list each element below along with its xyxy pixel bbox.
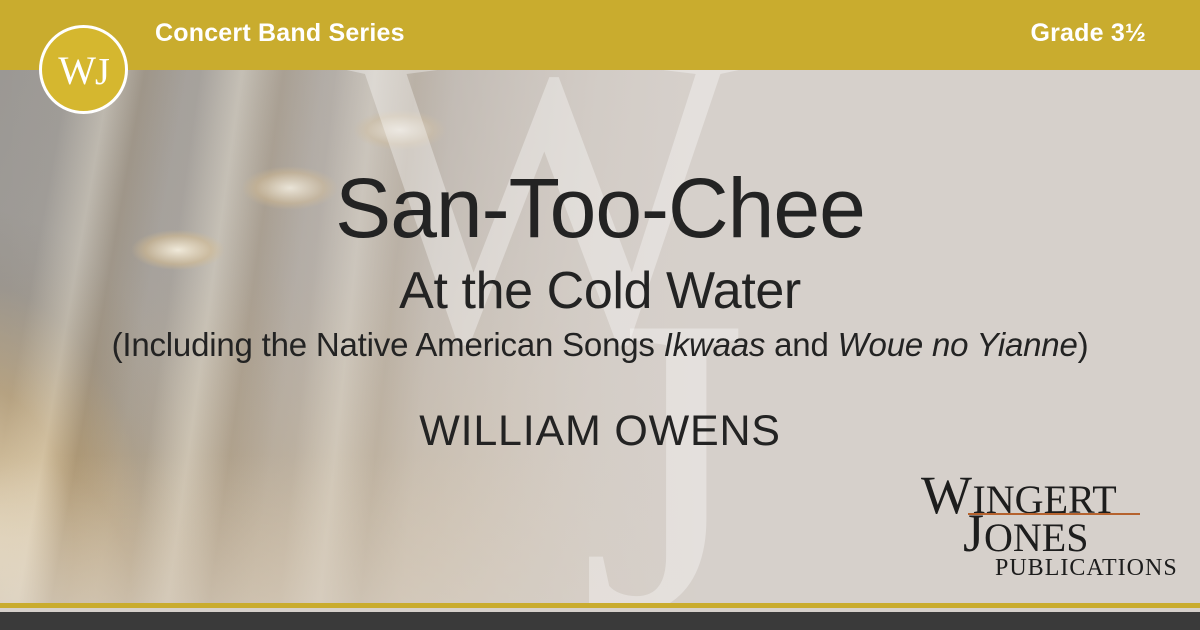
logo-text-ones: ONES [984,515,1088,560]
publisher-logo-line-jones: JONES [963,506,1088,560]
page-subtitle: At the Cold Water [0,265,1200,317]
series-label: Concert Band Series [155,19,405,48]
grade-label: Grade 3½ [1030,19,1146,48]
song-note-prefix: (Including the Native American Songs [112,326,664,363]
song-note-suffix: ) [1078,326,1089,363]
composer-name: WILLIAM OWENS [0,410,1200,453]
song-title-two: Woue no Yianne [838,326,1078,363]
included-songs-note: (Including the Native American Songs Ikw… [0,328,1200,361]
song-title-one: Ikwaas [664,326,766,363]
publisher-logo: WINGERT JONES PUBLICATIONS [915,468,1165,586]
logo-cap-j: J [963,503,984,563]
song-note-conjunction: and [765,326,837,363]
page-title: San-Too-Chee [0,166,1200,250]
footer-bar [0,612,1200,630]
header-band: Concert Band Series Grade 3½ [0,0,1200,70]
publisher-logo-line-publications: PUBLICATIONS [995,556,1178,580]
album-cover-poster: W J Concert Band Series Grade 3½ WJ San-… [0,0,1200,630]
